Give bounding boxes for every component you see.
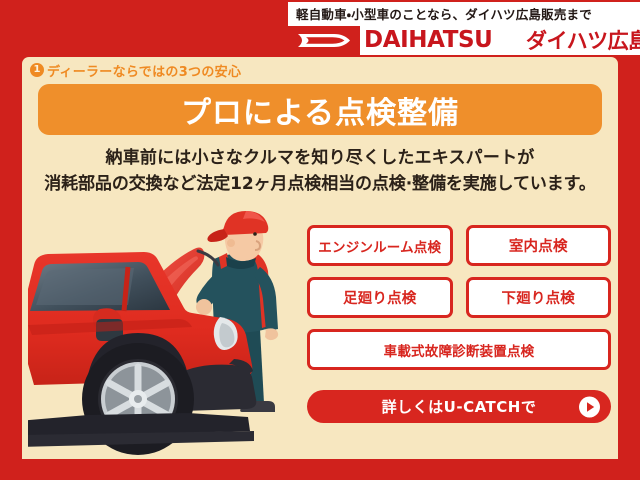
section-heading-label: ディーラーならではの3つの安心: [47, 61, 241, 80]
title-banner-text: プロによる点検整備: [181, 88, 459, 132]
inspection-item-label: 室内点検: [509, 235, 568, 256]
inspection-item-engine-room[interactable]: エンジンルーム点検: [307, 225, 453, 266]
brand-logo: DAIHATSU ダイハツ広島販売: [288, 26, 640, 55]
u-catch-cta-button[interactable]: 詳しくはU-CATCHで: [307, 390, 611, 423]
play-circle-icon: [579, 396, 600, 417]
inspection-item-interior[interactable]: 室内点検: [466, 225, 612, 266]
inspection-item-label: 下廻り点検: [502, 287, 576, 308]
advertisement-screenshot: 軽自動車・小型車のことなら、ダイハツ広島販売まで DAIHATSU ダイハツ広島…: [0, 0, 640, 480]
header-tagline: 軽自動車・小型車のことなら、ダイハツ広島販売まで: [296, 4, 636, 26]
header-panel: 軽自動車・小型車のことなら、ダイハツ広島販売まで DAIHATSU ダイハツ広島…: [288, 2, 640, 55]
u-catch-cta-label: 詳しくはU-CATCHで: [382, 396, 537, 417]
brand-jp-name: ダイハツ広島販売: [526, 27, 640, 55]
inspection-items-row-2: 足廻り点検 下廻り点検: [307, 277, 611, 318]
section-number-badge: 1: [30, 63, 44, 77]
title-banner: プロによる点検整備: [38, 84, 602, 135]
mechanic-inspecting-red-car-illustration: [28, 207, 318, 459]
inspection-item-label: エンジンルーム点検: [318, 236, 441, 256]
inspection-item-label: 車載式故障診断装置点検: [384, 340, 535, 360]
inspection-items-row-1: エンジンルーム点検 室内点検: [307, 225, 611, 266]
inspection-item-underbody[interactable]: 下廻り点検: [466, 277, 612, 318]
body-copy-line-1: 納車前には小さなクルマを知り尽くしたエキスパートが: [22, 145, 618, 171]
inspection-items-row-3: 車載式故障診断装置点検: [307, 329, 611, 370]
brand-wordmark: DAIHATSU: [364, 26, 492, 55]
inspection-items-list: エンジンルーム点検 室内点検 足廻り点検 下廻り点検 車載式故障診断装置点検: [307, 225, 611, 381]
inspection-item-label: 足廻り点検: [343, 287, 417, 308]
body-copy: 納車前には小さなクルマを知り尽くしたエキスパートが 消耗部品の交換など法定12ヶ…: [22, 145, 618, 197]
section-heading: 1 ディーラーならではの3つの安心: [30, 60, 241, 80]
content-panel: 1 ディーラーならではの3つの安心 プロによる点検整備 納車前には小さなクルマを…: [22, 57, 618, 459]
body-copy-line-2: 消耗部品の交換など法定12ヶ月点検相当の点検·整備を実施しています。: [22, 171, 618, 197]
inspection-item-obd[interactable]: 車載式故障診断装置点検: [307, 329, 611, 370]
inspection-item-suspension[interactable]: 足廻り点検: [307, 277, 453, 318]
daihatsu-d-emblem-icon: [288, 26, 360, 55]
